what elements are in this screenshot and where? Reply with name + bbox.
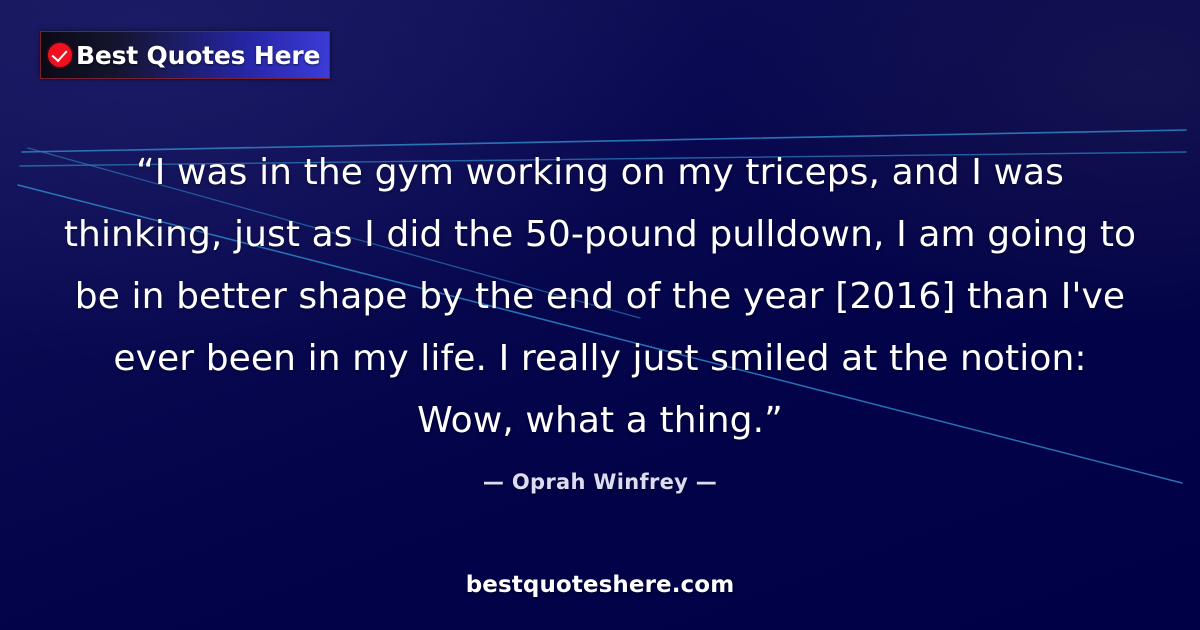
- quote-card: Best Quotes Here “I was in the gym worki…: [0, 0, 1200, 630]
- quote-attribution: — Oprah Winfrey —: [0, 470, 1200, 494]
- site-url-footer: bestquoteshere.com: [0, 572, 1200, 598]
- brand-logo-badge[interactable]: Best Quotes Here: [40, 31, 330, 79]
- check-circle-icon: [48, 43, 72, 67]
- brand-logo-label: Best Quotes Here: [76, 43, 320, 68]
- quote-text: “I was in the gym working on my triceps,…: [60, 142, 1140, 452]
